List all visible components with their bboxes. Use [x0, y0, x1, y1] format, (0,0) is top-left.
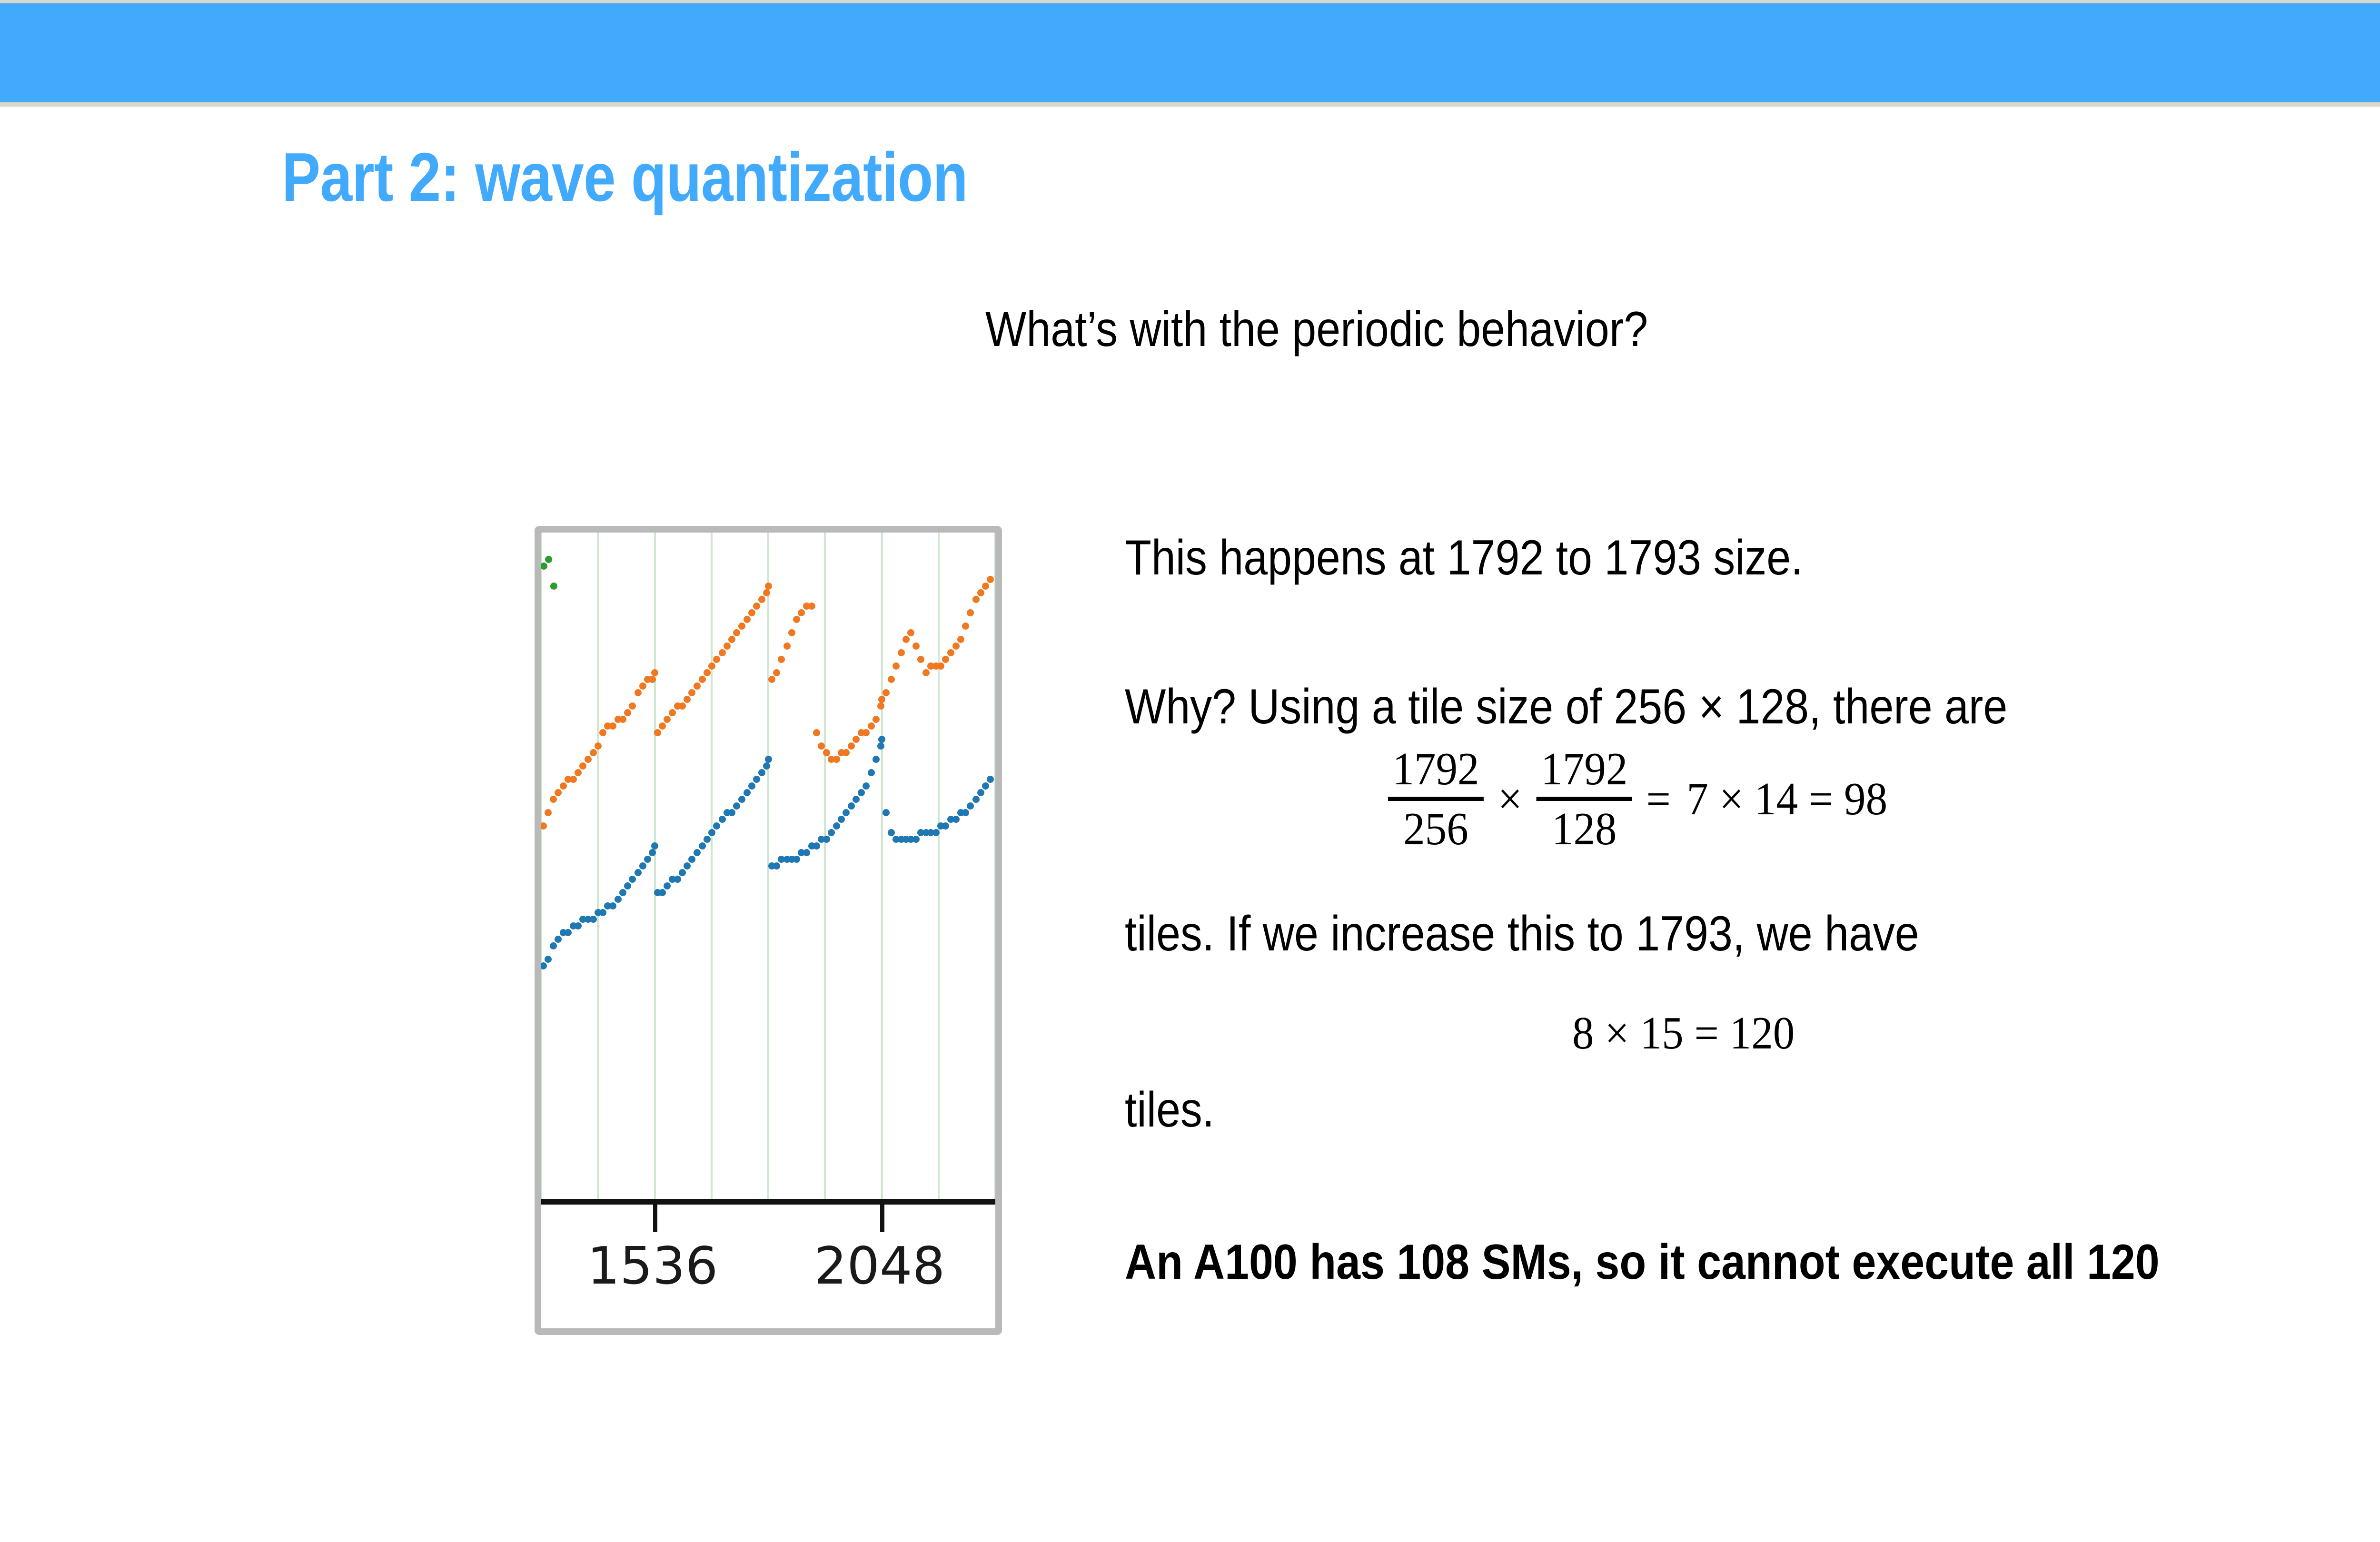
chart-data-point [763, 762, 770, 770]
chart-data-point [858, 789, 865, 796]
chart-data-point [609, 722, 616, 730]
chart-data-point [560, 782, 567, 790]
chart-data-point [765, 756, 772, 763]
chart-data-point [699, 842, 706, 850]
chart-data-point [828, 829, 835, 836]
chart-data-point [808, 603, 815, 610]
chart-data-point [550, 796, 557, 803]
chart-gridline [824, 533, 826, 1199]
chart-data-point [644, 856, 651, 863]
line-a100-sms: An A100 has 108 SMs, so it cannot execut… [1125, 1237, 2160, 1287]
chart-data-point [575, 922, 582, 929]
chart-data-point [768, 676, 775, 683]
chart-data-point [599, 729, 606, 736]
chart-data-point [545, 556, 552, 563]
fraction-1792-over-128: 1792 128 [1537, 745, 1632, 854]
chart-data-point [773, 862, 780, 870]
header-accent-bottom [0, 102, 2380, 107]
chart-gridline [938, 533, 940, 1199]
math-result-98: 7 × 14 = 98 [1686, 775, 1887, 824]
chart-data-point [738, 623, 745, 630]
chart-data-point [639, 862, 646, 870]
chart-data-point [763, 589, 770, 596]
chart-data-point [708, 829, 715, 836]
chart-data-point [575, 769, 582, 776]
chart-data-point [982, 583, 989, 590]
chart-data-point [883, 689, 890, 696]
chart-data-point [753, 603, 760, 610]
chart-data-point [545, 809, 552, 816]
chart-data-point [555, 789, 562, 796]
chart-data-point [733, 629, 740, 636]
line-why-tile-size: Why? Using a tile size of 256 × 128, the… [1125, 682, 2007, 731]
chart-data-point [724, 642, 731, 650]
chart-data-point [878, 696, 885, 703]
chart-data-point [873, 716, 880, 723]
chart-data-point [595, 742, 602, 750]
chart-data-point [719, 816, 726, 823]
chart-data-point [599, 909, 606, 916]
chart-data-point [590, 916, 597, 923]
chart-data-point [877, 742, 884, 750]
chart-data-point [758, 769, 765, 776]
chart-data-point [778, 656, 785, 663]
fraction-numerator: 1792 [1537, 745, 1632, 797]
chart-data-point [972, 596, 980, 603]
chart-data-point [738, 796, 745, 803]
fraction-denominator: 256 [1399, 801, 1473, 854]
chart-data-point [688, 856, 695, 863]
chart-data-point [728, 809, 735, 816]
chart-data-point [843, 809, 850, 816]
chart-data-point [957, 636, 964, 643]
chart-data-point [649, 676, 656, 683]
chart-data-point [684, 696, 691, 703]
line-this-happens: This happens at 1792 to 1793 size. [1125, 533, 1803, 583]
chart-data-point [679, 702, 686, 710]
x-axis-tick-label: 2048 [814, 1241, 945, 1292]
chart-data-point [728, 636, 735, 643]
chart-data-point [629, 702, 636, 710]
chart-data-point [848, 802, 855, 810]
chart-data-point [898, 649, 905, 656]
chart-data-point [615, 896, 622, 903]
x-axis-tick-label: 1536 [587, 1241, 718, 1292]
chart-data-point [952, 642, 960, 650]
chart-data-point [651, 842, 658, 850]
chart-data-point [624, 882, 631, 890]
chart-data-point [977, 589, 984, 596]
chart-data-point [545, 956, 552, 963]
chart-data-point [853, 736, 860, 743]
chart-data-point [704, 669, 711, 676]
chart-data-point [694, 849, 701, 856]
chart-data-point [651, 669, 658, 676]
chart-data-point [748, 782, 755, 790]
chart-data-point [773, 669, 780, 676]
chart-data-point [694, 682, 701, 690]
chart-data-point [619, 716, 626, 723]
chart-data-point [699, 676, 706, 683]
chart-data-point [708, 662, 715, 670]
chart-data-point [823, 749, 830, 756]
chart-gridline [994, 533, 995, 1199]
chart-data-point [833, 756, 840, 763]
chart-data-point [629, 876, 636, 883]
chart-data-point [635, 869, 642, 876]
chart-data-point [873, 756, 880, 763]
chart-data-point [704, 836, 711, 843]
chart-data-point [758, 596, 765, 603]
chart-gridline [881, 533, 883, 1199]
fraction-bar [1537, 797, 1632, 801]
chart-data-point [942, 656, 949, 663]
chart-data-point [541, 962, 547, 969]
chart-data-point [713, 822, 720, 830]
chart-data-point [748, 609, 755, 616]
chart-data-point [972, 796, 980, 803]
chart-plot-area [541, 533, 995, 1199]
chart-data-point [917, 656, 924, 663]
page-title: Part 2: wave quantization [282, 143, 968, 212]
chart-data-point [962, 809, 969, 816]
chart-data-point [868, 722, 875, 730]
chart-data-point [744, 789, 751, 796]
chart-data-point [942, 822, 949, 830]
chart-data-point [818, 742, 825, 750]
line-tiles: tiles. [1125, 1085, 1214, 1135]
chart-data-point [555, 936, 562, 943]
chart-data-point [541, 563, 547, 570]
chart-data-point [639, 682, 646, 690]
chart-data-point [888, 829, 895, 836]
chart-data-point [877, 702, 884, 710]
chart-data-point [922, 669, 930, 676]
chart-data-point [838, 816, 845, 823]
chart-data-point [813, 729, 820, 736]
chart-data-point [868, 769, 875, 776]
chart-data-point [609, 902, 616, 909]
chart-data-point [550, 942, 557, 949]
chart-data-point [962, 623, 969, 630]
equals-sign: = [1646, 775, 1670, 824]
header-band [0, 3, 2380, 102]
header-accent-top [0, 0, 2380, 3]
wave-quantization-chart: 15362048 [535, 526, 1002, 1335]
chart-data-point [952, 816, 960, 823]
chart-data-point [550, 583, 557, 590]
slide-subtitle: What’s with the periodic behavior? [985, 305, 1648, 354]
slide-root: Part 2: wave quantization What’s with th… [0, 0, 2380, 1542]
chart-data-point [907, 629, 914, 636]
chart-data-point [793, 616, 800, 623]
chart-data-point [863, 782, 870, 790]
chart-data-point [793, 856, 800, 863]
chart-data-point [987, 576, 994, 583]
chart-data-point [590, 749, 597, 756]
chart-data-point [843, 749, 850, 756]
chart-data-point [987, 776, 994, 783]
chart-data-point [664, 882, 671, 890]
chart-data-point [654, 729, 661, 736]
chart-data-point [713, 656, 720, 663]
fraction-1792-over-256: 1792 256 [1388, 745, 1484, 854]
chart-data-point [833, 822, 840, 830]
chart-data-point [967, 802, 974, 810]
chart-data-point [823, 836, 830, 843]
chart-data-point [853, 796, 860, 803]
fraction-numerator: 1792 [1388, 745, 1484, 797]
chart-data-point [947, 649, 954, 656]
math-equation-98: 1792 256 × 1792 128 = 7 × 14 = 98 [1382, 745, 1895, 854]
chart-data-point [635, 689, 642, 696]
x-axis-tick [880, 1205, 884, 1232]
math-equation-120: 8 × 15 = 120 [1572, 1009, 1795, 1058]
chart-data-point [719, 649, 726, 656]
line-tiles-increase: tiles. If we increase this to 1793, we h… [1125, 909, 1919, 959]
fraction-bar [1388, 797, 1484, 801]
chart-data-point [932, 829, 940, 836]
chart-data-point [659, 889, 666, 896]
chart-data-point [649, 849, 656, 856]
x-axis-tick [653, 1205, 657, 1232]
chart-data-point [888, 676, 895, 683]
chart-data-point [798, 609, 805, 616]
chart-data-point [902, 636, 910, 643]
chart-data-point [803, 849, 810, 856]
chart-data-point [912, 836, 920, 843]
chart-data-point [733, 802, 740, 810]
multiplication-sign: × [1498, 775, 1522, 824]
chart-data-point [863, 729, 870, 736]
chart-data-point [679, 869, 686, 876]
chart-data-point [659, 722, 666, 730]
chart-data-point [619, 889, 626, 896]
chart-data-point [674, 876, 681, 883]
chart-data-point [684, 862, 691, 870]
chart-data-point [765, 583, 772, 590]
chart-data-point [967, 609, 974, 616]
chart-data-point [937, 662, 944, 670]
chart-data-point [541, 822, 547, 830]
x-axis-line [541, 1199, 995, 1205]
chart-data-point [883, 809, 890, 816]
fraction-denominator: 128 [1547, 801, 1621, 854]
chart-data-point [848, 742, 855, 750]
chart-inner: 15362048 [541, 533, 995, 1328]
chart-gridline [541, 533, 542, 1199]
chart-gridline [654, 533, 656, 1199]
chart-data-point [753, 776, 760, 783]
chart-data-point [664, 716, 671, 723]
chart-gridline [711, 533, 713, 1199]
chart-data-point [624, 709, 631, 716]
chart-data-point [982, 782, 989, 790]
chart-data-point [688, 689, 695, 696]
chart-data-point [579, 762, 586, 770]
chart-data-point [878, 736, 885, 743]
chart-data-point [788, 629, 795, 636]
chart-data-point [977, 789, 984, 796]
chart-data-point [813, 842, 820, 850]
chart-data-point [585, 756, 592, 763]
chart-data-point [744, 616, 751, 623]
chart-data-point [565, 929, 572, 936]
chart-gridline [597, 533, 599, 1199]
chart-data-point [783, 642, 791, 650]
chart-data-point [892, 662, 900, 670]
chart-data-point [912, 642, 920, 650]
chart-data-point [669, 709, 676, 716]
chart-data-point [570, 776, 577, 783]
